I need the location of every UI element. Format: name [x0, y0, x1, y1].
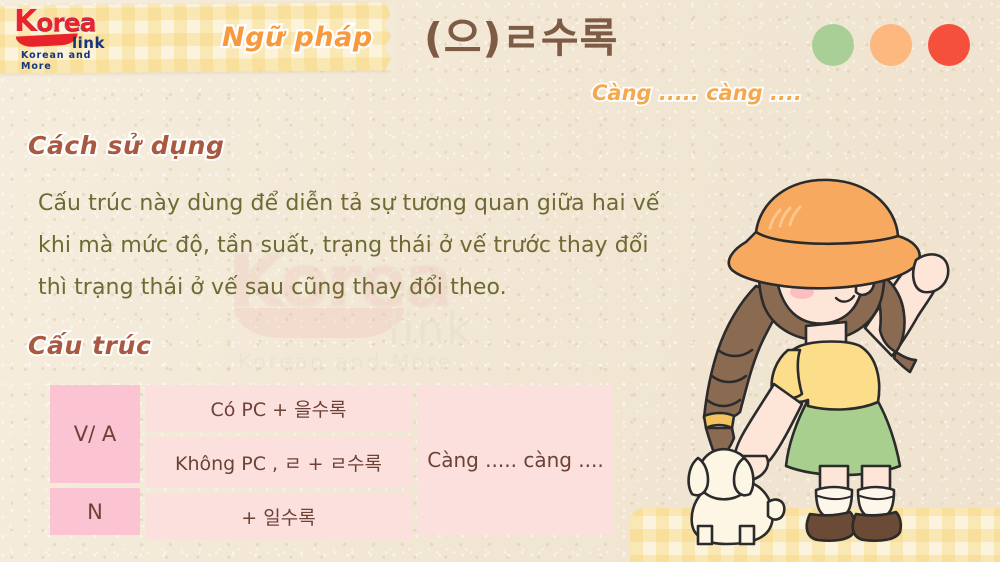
dot-red [928, 24, 970, 66]
cell-form-without-final-consonant: Không PC , ㄹ + ㄹ수록 [145, 437, 412, 488]
logo-orea-text: orea [36, 8, 95, 37]
logo-tagline-text: Korean and More [21, 50, 119, 72]
structure-column-part-of-speech: V/ A N [50, 385, 140, 535]
logo-swoosh-shape [16, 33, 78, 47]
structure-heading: Cấu trúc [28, 331, 151, 361]
dot-orange [870, 24, 912, 66]
brand-logo: Korea link Korean and More [14, 9, 119, 61]
dot-green [812, 24, 854, 66]
usage-line-1: Cấu trúc này dùng để diễn tả sự tương qu… [38, 183, 698, 225]
usage-heading: Cách sử dụng [28, 131, 225, 161]
cell-part-of-speech-noun: N [50, 488, 140, 535]
cell-form-noun: + 일수록 [145, 493, 412, 540]
cell-form-with-final-consonant: Có PC + 을수록 [145, 385, 412, 432]
cell-meaning-vietnamese: Càng ..... càng .... [417, 385, 614, 535]
usage-line-2: khi mà mức độ, tần suất, trạng thái ở vế… [38, 225, 698, 267]
watermark-swoosh-shape [234, 308, 404, 338]
structure-column-meaning: Càng ..... càng .... [417, 385, 614, 535]
banner-torn-edge [380, 2, 397, 70]
girl-waving-with-dog-illustration [660, 150, 1000, 550]
structure-column-forms: Có PC + 을수록 Không PC , ㄹ + ㄹ수록 + 일수록 [145, 385, 412, 535]
logo-korea-wordmark: Korea [14, 9, 119, 35]
watermark-tagline-text: Korean and More [238, 350, 453, 374]
watermark-link-text: link [388, 304, 474, 355]
grammar-label: Ngữ pháp [222, 22, 373, 54]
slide-canvas: Korea link Korean and More Korea link Ko… [0, 0, 1000, 562]
usage-line-3: thì trạng thái ở vế sau cũng thay đổi th… [38, 267, 698, 309]
decorative-dots [812, 24, 970, 66]
structure-table: V/ A N Có PC + 을수록 Không PC , ㄹ + ㄹ수록 + … [50, 385, 614, 535]
usage-paragraph: Cấu trúc này dùng để diễn tả sự tương qu… [38, 183, 698, 309]
page-subtitle: Càng ..... càng .... [592, 80, 802, 106]
page-title: (으)ㄹ수록 [424, 14, 618, 62]
cell-part-of-speech-verb-adjective: V/ A [50, 385, 140, 483]
logo-letter-k: K [14, 4, 36, 39]
